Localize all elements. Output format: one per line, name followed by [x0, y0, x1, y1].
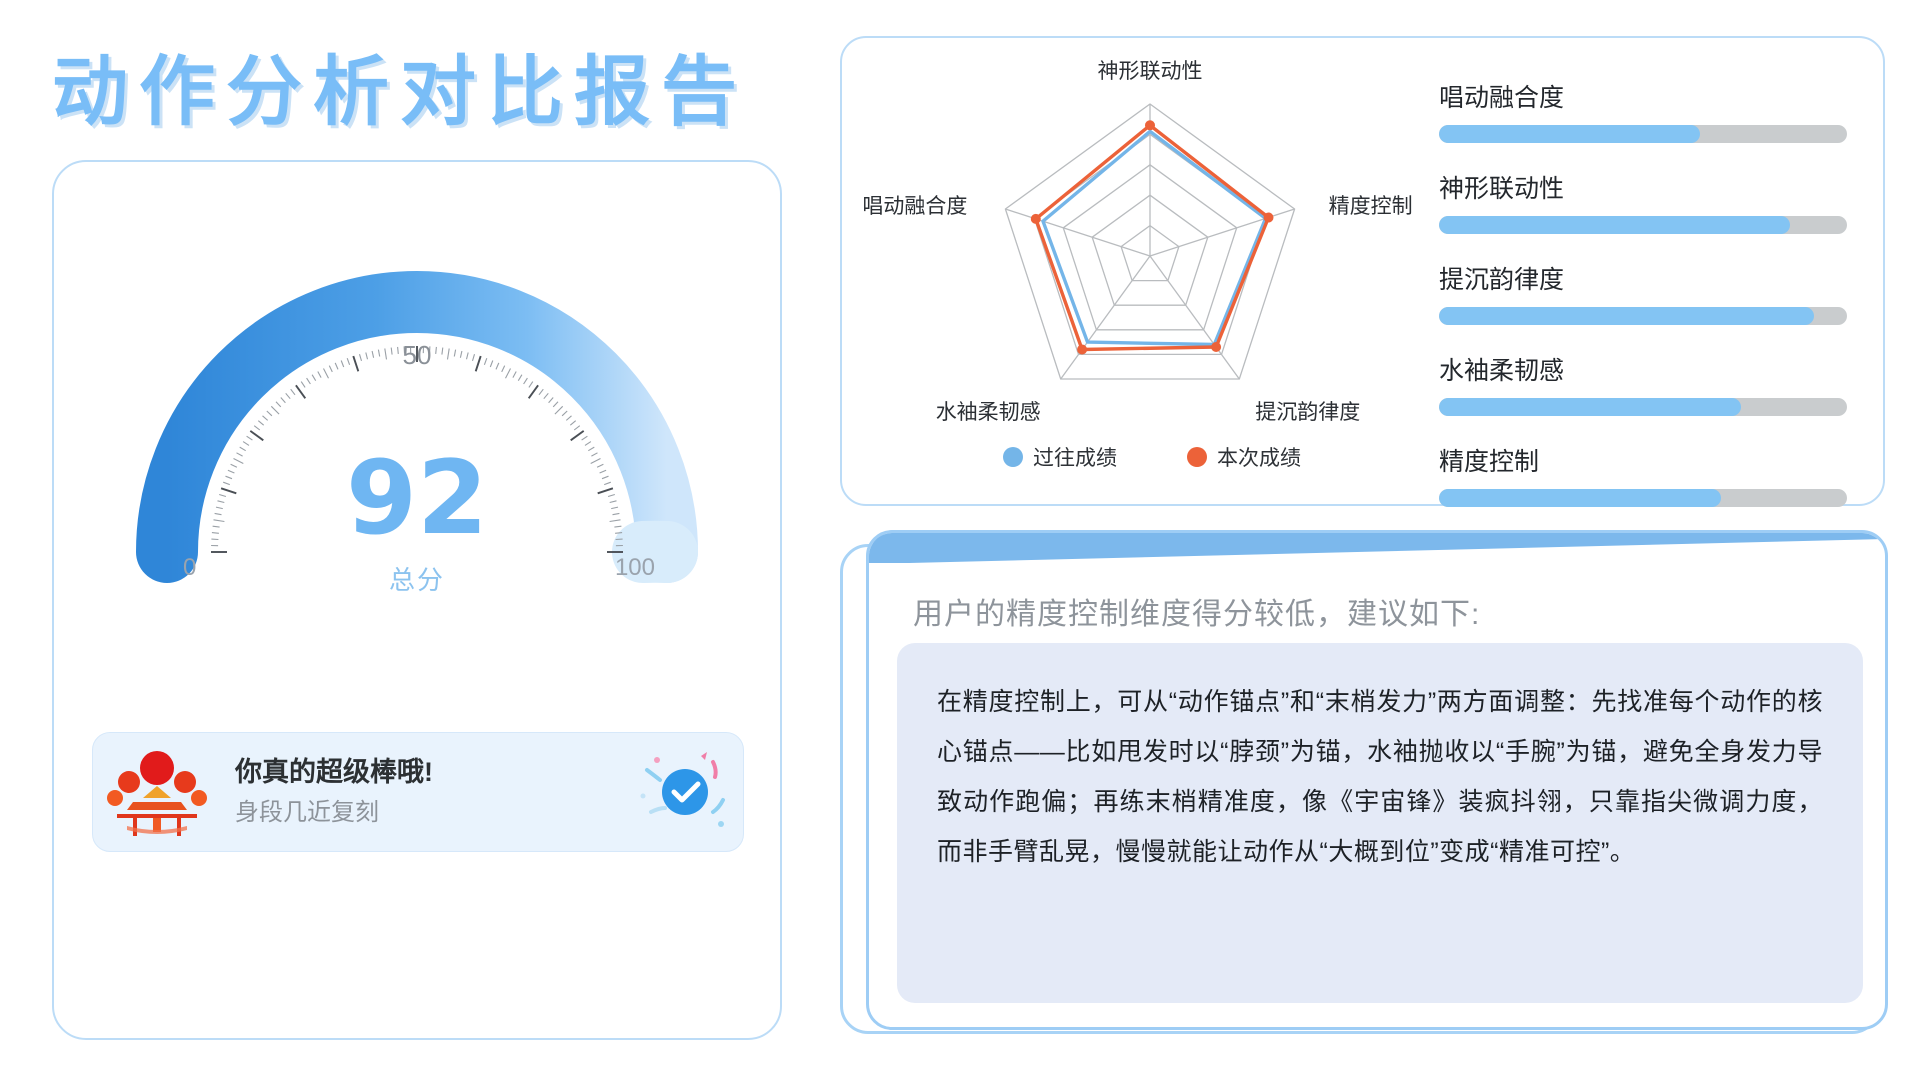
metric-bar-track — [1439, 398, 1847, 416]
radar-legend: 过往成绩 本次成绩 — [872, 442, 1432, 472]
left-column: 动作分析对比报告 — [0, 0, 820, 1079]
page-title: 动作分析对比报告 — [52, 30, 748, 140]
praise-title: 你真的超级棒哦! — [235, 756, 623, 790]
check-badge-icon — [623, 737, 743, 847]
svg-text:50: 50 — [403, 340, 432, 370]
metric-bar-fill — [1439, 307, 1814, 325]
svg-text:唱动融合度: 唱动融合度 — [862, 195, 967, 218]
metric-bar-label: 精度控制 — [1439, 442, 1847, 478]
metric-bar-row: 水袖柔韧感 — [1439, 351, 1847, 416]
svg-text:精度控制: 精度控制 — [1329, 195, 1413, 218]
svg-text:水袖柔韧感: 水袖柔韧感 — [936, 401, 1041, 424]
gauge-min-label: 0 — [183, 554, 196, 582]
svg-text:神形联动性: 神形联动性 — [1098, 60, 1203, 83]
report-page: 动作分析对比报告 — [0, 0, 1920, 1079]
metric-bar-label: 唱动融合度 — [1439, 78, 1847, 114]
metric-bar-fill — [1439, 125, 1700, 143]
legend-label-current: 本次成绩 — [1217, 442, 1301, 472]
legend-dot-past — [1003, 447, 1023, 467]
score-card: 50 92 总分 0 100 — [52, 160, 782, 1040]
metric-bar-label: 神形联动性 — [1439, 169, 1847, 205]
legend-item-current: 本次成绩 — [1187, 442, 1301, 472]
score-gauge: 50 92 总分 0 100 — [127, 252, 707, 612]
radar-chart-svg: 神形联动性精度控制提沉韵律度水袖柔韧感唱动融合度 — [850, 44, 1450, 454]
metric-bar-row: 提沉韵律度 — [1439, 260, 1847, 325]
praise-banner: 你真的超级棒哦! 身段几近复刻 — [92, 732, 744, 852]
gauge-max-label: 100 — [615, 554, 655, 582]
advice-ribbon-decoration — [869, 533, 1887, 567]
praise-text-block: 你真的超级棒哦! 身段几近复刻 — [221, 756, 623, 828]
metric-bar-fill — [1439, 398, 1741, 416]
metric-bar-label: 提沉韵律度 — [1439, 260, 1847, 296]
praise-desc: 身段几近复刻 — [235, 798, 623, 828]
svg-text:提沉韵律度: 提沉韵律度 — [1255, 401, 1360, 424]
metric-bar-fill — [1439, 216, 1790, 234]
advice-body: 在精度控制上，可从“动作锚点”和“末梢发力”两方面调整：先找准每个动作的核心锚点… — [897, 643, 1863, 1003]
metric-bar-fill — [1439, 489, 1721, 507]
metric-bar-track — [1439, 307, 1847, 325]
metric-bars: 唱动融合度神形联动性提沉韵律度水袖柔韧感精度控制 — [1439, 78, 1847, 533]
radar-card: 神形联动性精度控制提沉韵律度水袖柔韧感唱动融合度 过往成绩 本次成绩 唱动融合度… — [840, 36, 1885, 506]
metric-bar-track — [1439, 125, 1847, 143]
advice-card: 用户的精度控制维度得分较低，建议如下: 在精度控制上，可从“动作锚点”和“末梢发… — [866, 530, 1888, 1030]
gauge-score-value: 92 — [127, 448, 707, 550]
metric-bar-track — [1439, 489, 1847, 507]
legend-label-past: 过往成绩 — [1033, 442, 1117, 472]
lantern-pagoda-icon — [93, 742, 221, 842]
legend-dot-current — [1187, 447, 1207, 467]
metric-bar-row: 唱动融合度 — [1439, 78, 1847, 143]
metric-bar-row: 神形联动性 — [1439, 169, 1847, 234]
metric-bar-label: 水袖柔韧感 — [1439, 351, 1847, 387]
right-column: 神形联动性精度控制提沉韵律度水袖柔韧感唱动融合度 过往成绩 本次成绩 唱动融合度… — [830, 0, 1920, 1079]
advice-panel: 用户的精度控制维度得分较低，建议如下: 在精度控制上，可从“动作锚点”和“末梢发… — [840, 530, 1895, 1050]
advice-body-text: 在精度控制上，可从“动作锚点”和“末梢发力”两方面调整：先找准每个动作的核心锚点… — [937, 677, 1823, 877]
metric-bar-row: 精度控制 — [1439, 442, 1847, 507]
legend-item-past: 过往成绩 — [1003, 442, 1117, 472]
advice-heading: 用户的精度控制维度得分较低，建议如下: — [913, 589, 1480, 633]
radar-chart: 神形联动性精度控制提沉韵律度水袖柔韧感唱动融合度 — [850, 44, 1450, 494]
metric-bar-track — [1439, 216, 1847, 234]
